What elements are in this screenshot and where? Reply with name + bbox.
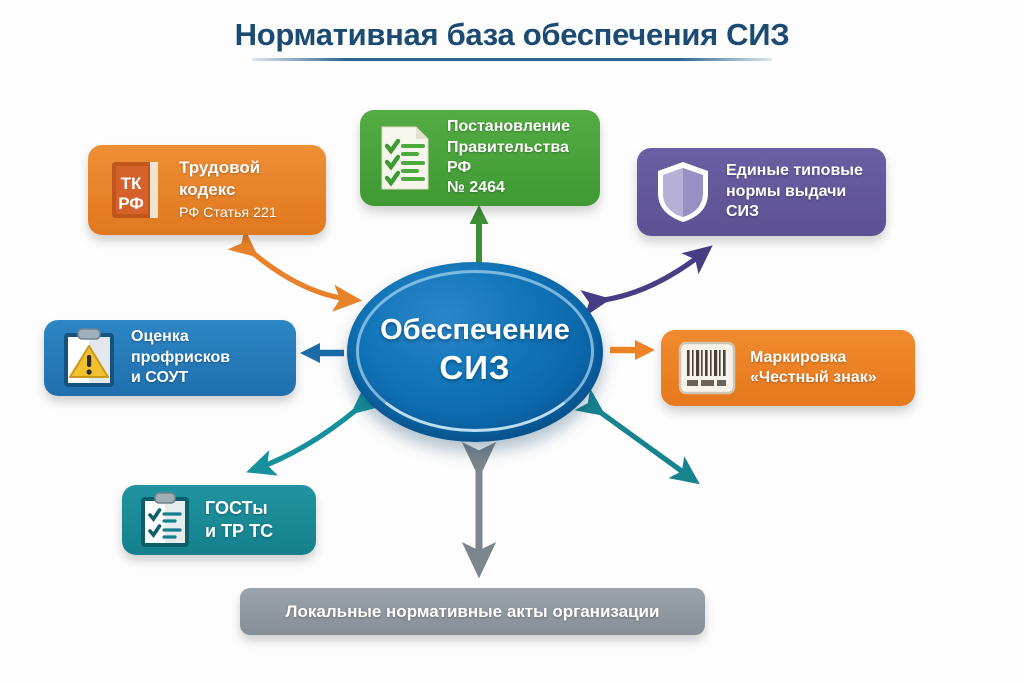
title-block: Нормативная база обеспечения СИЗ [0,18,1024,61]
node-gost-line1: ГОСТы [205,497,273,520]
node-gost-line2: и ТР ТС [205,520,273,543]
node-government-decree-label: Постановление Правительства РФ № 2464 [447,117,584,199]
center-label-line1: Обеспечение [380,314,570,347]
node-government-decree[interactable]: Постановление Правительства РФ № 2464 [360,110,600,206]
barcode-icon [677,340,737,396]
node-government-decree-line2: Правительства РФ [447,138,584,179]
node-uniform-norms-label: Единые типовые нормы выдачи СИЗ [726,161,870,222]
node-risk-assessment-line1: Оценка профрисков [131,327,280,368]
book-icon-line1: ТК [121,174,142,193]
node-uniform-norms-line1: Единые типовые [726,161,870,181]
book-icon-line2: РФ [118,194,144,213]
node-labor-code-label: Трудовой кодекс РФ Статья 221 [179,157,310,222]
node-risk-assessment-line2: и СОУТ [131,368,280,388]
page-title: Нормативная база обеспечения СИЗ [235,18,790,58]
shield-icon [653,159,713,225]
node-risk-assessment-label: Оценка профрисков и СОУТ [131,327,280,388]
clipboard-warning-icon [60,327,118,389]
infographic-canvas: Нормативная база обеспечения СИЗ [0,0,1024,683]
node-uniform-norms-line2: нормы выдачи СИЗ [726,182,870,223]
node-gost-trts-label: ГОСТы и ТР ТС [205,497,273,543]
checklist-document-icon [376,124,434,192]
arrow-center-mark [610,340,655,360]
node-local-acts-label: Локальные нормативные акты организации [286,601,660,623]
arrow-center-tk [253,253,355,300]
node-marking-line1: Маркировка [750,348,877,368]
node-risk-assessment[interactable]: Оценка профрисков и СОУТ [44,320,296,396]
node-uniform-norms[interactable]: Единые типовые нормы выдачи СИЗ [637,148,886,236]
title-underline [252,58,772,61]
node-marking-line2: «Честный знак» [750,368,877,388]
node-labor-code[interactable]: ТК РФ Трудовой кодекс РФ Статья 221 [88,145,326,235]
node-government-decree-line1: Постановление [447,117,584,137]
arrow-center-gost [253,410,356,470]
node-gost-trts[interactable]: ГОСТы и ТР ТС [122,485,316,555]
center-label-line2: СИЗ [439,347,510,390]
book-icon: ТК РФ [104,158,166,222]
node-marking-honest-sign-label: Маркировка «Честный знак» [750,348,877,389]
node-labor-code-sub: РФ Статья 221 [179,201,310,223]
node-government-decree-line3: № 2464 [447,178,584,198]
clipboard-checklist-icon [138,491,192,549]
node-local-acts[interactable]: Локальные нормативные акты организации [240,588,705,635]
arrow-center-pp [470,205,489,267]
center-node[interactable]: Обеспечение СИЗ [347,262,603,442]
node-labor-code-title: Трудовой кодекс [179,157,310,201]
arrow-center-risk [300,343,344,363]
arrow-center-norms [604,250,707,300]
node-marking-honest-sign[interactable]: Маркировка «Честный знак» [661,330,915,406]
arrow-center-bottom-right [600,412,694,480]
